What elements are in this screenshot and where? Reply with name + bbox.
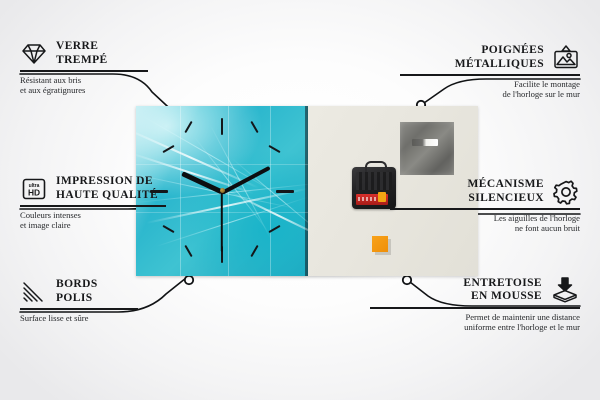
callout-rule (370, 307, 580, 309)
callout-sub-line2: et aux égratignures (20, 85, 200, 95)
callout-sub-line1: Couleurs intenses (20, 210, 210, 220)
clock-tick-5 (250, 245, 258, 257)
metal-hanger-part (400, 122, 454, 175)
clock-tick-7 (184, 245, 192, 257)
callout-rule (20, 205, 166, 207)
callout-rule (390, 208, 580, 210)
callout-title-line1: BORDS (56, 278, 98, 292)
callout-sub-line1: Facilite le montage (400, 79, 580, 89)
callout-sub-line1: Résistant aux bris (20, 75, 200, 85)
callout-rule (20, 308, 138, 310)
callout-title-line2: POLIS (56, 292, 98, 306)
callout-title-line1: VERRE (56, 40, 108, 54)
callout-rule (400, 74, 580, 76)
callout-title-line1: POIGNÉES (455, 44, 544, 58)
gear-icon (552, 179, 580, 205)
callout-rule (20, 70, 148, 72)
clock-tick-12 (221, 118, 223, 135)
clock-tick-3 (276, 190, 294, 193)
callout-title-line2: SILENCIEUX (468, 192, 544, 206)
callout-title-line1: MÉCANISME (468, 178, 544, 192)
foam-spacer-icon (550, 276, 580, 304)
infographic-canvas: VERRE TREMPÉ Résistant aux bris et aux é… (0, 0, 600, 400)
ultra-hd-icon: ultra HD (20, 177, 48, 201)
hanger-slot (412, 139, 438, 146)
clock-tick-11 (184, 121, 192, 133)
callout-sub-line1: Permet de maintenir une distance (370, 312, 580, 322)
diamond-icon (20, 42, 48, 66)
callout-sub-line1: Surface lisse et sûre (20, 313, 200, 323)
polished-edges-icon (20, 280, 48, 304)
callout-title-line2: TREMPÉ (56, 54, 108, 68)
callout-sub-line2: ne font aucun bruit (390, 223, 580, 233)
callout-title-line1: ENTRETOISE (463, 277, 542, 291)
callout-bords-polis: BORDS POLIS Surface lisse et sûre (20, 278, 200, 323)
callout-entretoise-en-mousse: ENTRETOISE EN MOUSSE Permet de maintenir… (370, 276, 580, 332)
callout-impression-haute-qualite: ultra HD IMPRESSION DE HAUTE QUALITÉ Cou… (20, 175, 210, 230)
callout-mecanisme-silencieux: MÉCANISME SILENCIEUX Les aiguilles de l'… (390, 178, 580, 233)
callout-sub-line2: de l'horloge sur le mur (400, 89, 580, 99)
callout-title-line2: EN MOUSSE (463, 290, 542, 304)
foam-spacer-part (372, 236, 388, 252)
callout-sub-line2: et image claire (20, 220, 210, 230)
svg-text:HD: HD (28, 187, 40, 197)
callout-title-line1: IMPRESSION DE (56, 175, 158, 189)
clock-second-hand (221, 192, 223, 252)
callout-sub-line1: Les aiguilles de l'horloge (390, 213, 580, 223)
callout-poignees-metalliques: POIGNÉES MÉTALLIQUES Facilite le montage… (400, 44, 580, 99)
callout-title-line2: HAUTE QUALITÉ (56, 189, 158, 203)
callout-title-line2: MÉTALLIQUES (455, 58, 544, 72)
callout-verre-trempe: VERRE TREMPÉ Résistant aux bris et aux é… (20, 40, 200, 95)
wall-frame-icon (552, 45, 580, 71)
clock-tick-1 (250, 121, 258, 133)
clock-center-pin (220, 188, 225, 193)
mechanism-grille (356, 172, 392, 190)
battery-part (356, 194, 388, 205)
callout-sub-line2: uniforme entre l'horloge et le mur (370, 322, 580, 332)
